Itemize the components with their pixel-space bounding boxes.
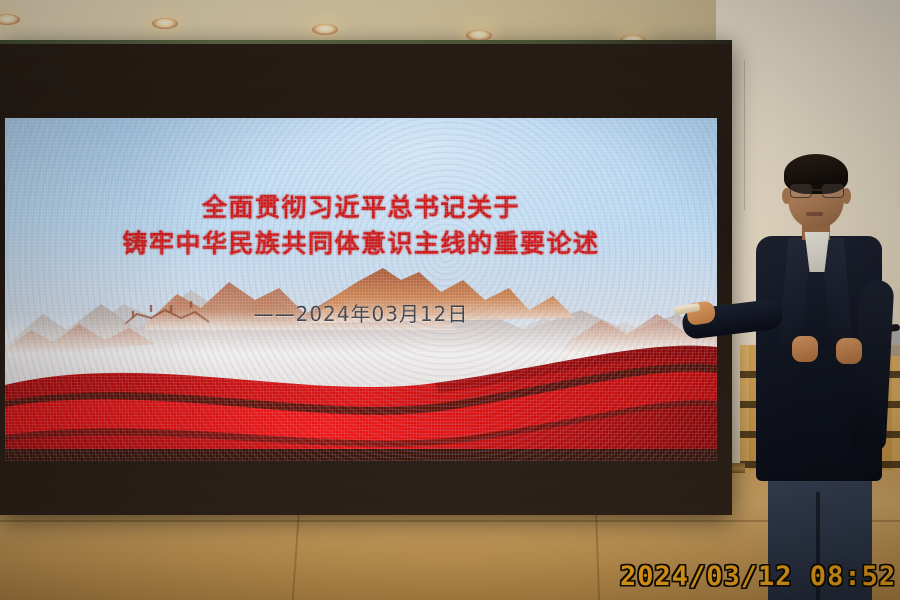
slide-date-subtitle: ——2024年03月12日: [5, 298, 717, 327]
glasses-lens-right: [822, 184, 844, 198]
presenter-hand-right: [836, 338, 862, 364]
led-screen-top-edge: [0, 40, 732, 44]
slide-bottom-edge: [5, 449, 717, 461]
downlight-2-icon: [152, 18, 178, 29]
glasses-icon: [790, 184, 842, 196]
presentation-slide[interactable]: 全面贯彻习近平总书记关于 铸牢中华民族共同体意识主线的重要论述 ——2024年0…: [5, 118, 717, 461]
presenter: [660, 140, 900, 600]
presenter-hand-inner: [792, 336, 818, 362]
red-ribbon-graphic: [5, 331, 717, 461]
presentation-room-photo: 全面贯彻习近平总书记关于 铸牢中华民族共同体意识主线的重要论述 ——2024年0…: [0, 0, 900, 600]
glasses-lens-left: [790, 184, 812, 198]
slide-title: 全面贯彻习近平总书记关于 铸牢中华民族共同体意识主线的重要论述: [5, 190, 717, 262]
downlight-3-icon: [312, 24, 338, 35]
slide-title-line-1: 全面贯彻习近平总书记关于: [5, 190, 717, 226]
glasses-bridge: [810, 189, 822, 191]
presenter-mouth: [806, 212, 823, 216]
slide-title-line-2: 铸牢中华民族共同体意识主线的重要论述: [5, 226, 717, 262]
camera-timestamp-overlay: 2024/03/12 08:52: [620, 561, 896, 592]
